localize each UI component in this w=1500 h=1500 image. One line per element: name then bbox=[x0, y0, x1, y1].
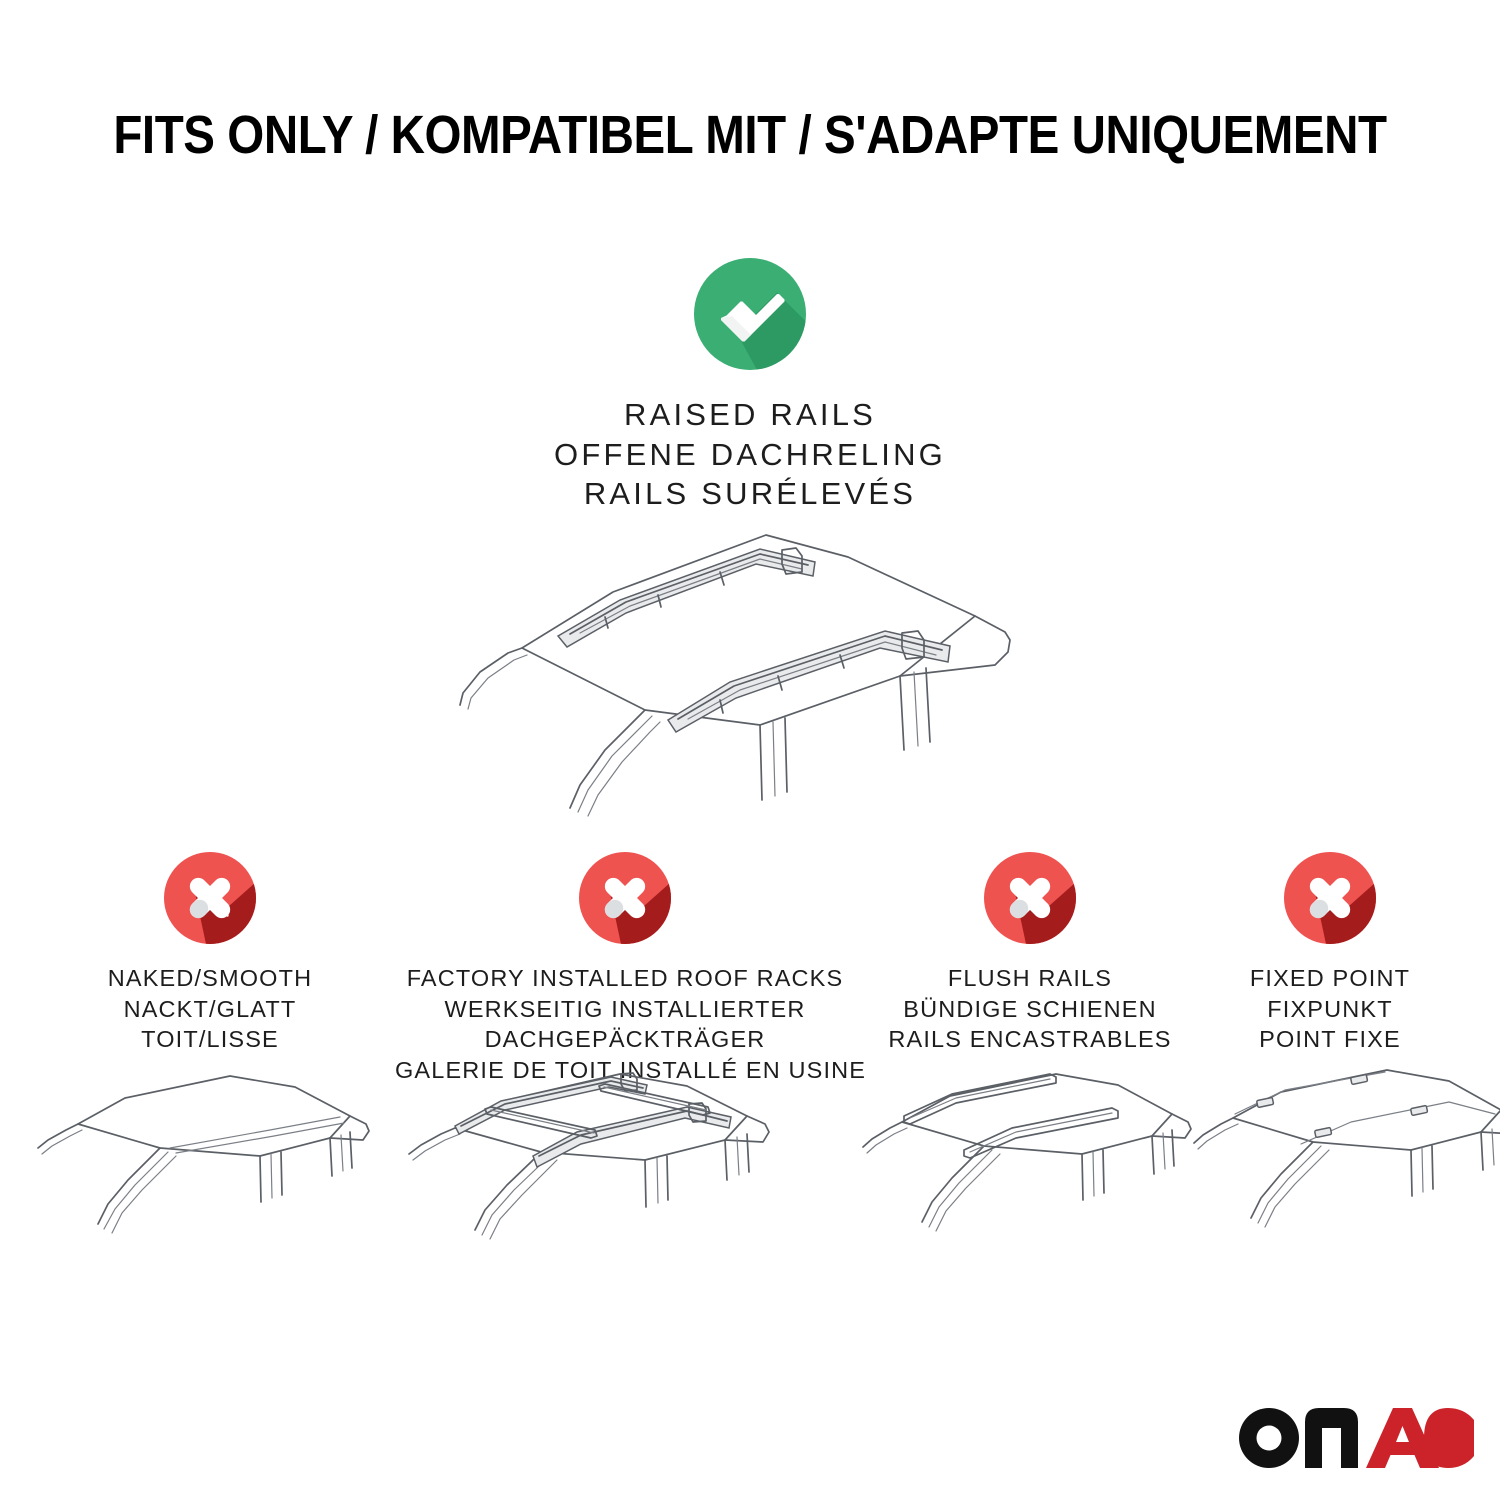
x-circle-icon bbox=[579, 852, 671, 944]
rejected-label-flush-rails: FLUSH RAILS BÜNDIGE SCHIENEN RAILS ENCAS… bbox=[860, 963, 1200, 1055]
x-circle-icon bbox=[164, 852, 256, 944]
rejected-section: NAKED/SMOOTH NACKT/GLATT TOIT/LISSE bbox=[0, 852, 1500, 1332]
rejected-item-factory-roof-racks: FACTORY INSTALLED ROOF RACKS WERKSEITIG … bbox=[395, 852, 855, 1085]
label-line-en: FACTORY INSTALLED ROOF RACKS bbox=[395, 963, 855, 994]
car-roof-flush-rails-illustration bbox=[860, 1052, 1200, 1272]
approved-label-line-de: OFFENE DACHRELING bbox=[0, 435, 1500, 475]
header: FITS ONLY / KOMPATIBEL MIT / S'ADAPTE UN… bbox=[0, 104, 1500, 166]
x-circle-icon bbox=[1284, 852, 1376, 944]
label-line-de: FIXPUNKT bbox=[1205, 994, 1455, 1025]
rejected-item-fixed-point: FIXED POINT FIXPUNKT POINT FIXE bbox=[1205, 852, 1455, 1055]
label-line-de: NACKT/GLATT bbox=[30, 994, 390, 1025]
approved-label: RAISED RAILS OFFENE DACHRELING RAILS SUR… bbox=[0, 395, 1500, 514]
label-line-en: NAKED/SMOOTH bbox=[30, 963, 390, 994]
x-mark-icon bbox=[984, 852, 1076, 944]
omac-logo-mark bbox=[1238, 1406, 1474, 1468]
label-line-de: BÜNDIGE SCHIENEN bbox=[860, 994, 1200, 1025]
label-line-de-2: DACHGEPÄCKTRÄGER bbox=[395, 1024, 855, 1055]
rejected-label-naked-smooth: NAKED/SMOOTH NACKT/GLATT TOIT/LISSE bbox=[30, 963, 390, 1055]
logo-letter-c bbox=[1424, 1408, 1474, 1468]
logo-letter-o bbox=[1239, 1408, 1299, 1468]
approved-section: RAISED RAILS OFFENE DACHRELING RAILS SUR… bbox=[0, 258, 1500, 514]
car-roof-naked-smooth-illustration bbox=[30, 1052, 390, 1272]
logo-letter-m bbox=[1305, 1408, 1358, 1468]
car-roof-with-raised-rails-illustration bbox=[430, 500, 1070, 820]
label-line-en: FIXED POINT bbox=[1205, 963, 1455, 994]
rejected-label-fixed-point: FIXED POINT FIXPUNKT POINT FIXE bbox=[1205, 963, 1455, 1055]
label-line-fr: POINT FIXE bbox=[1205, 1024, 1455, 1055]
x-mark-icon bbox=[1284, 852, 1376, 944]
omac-logo bbox=[1238, 1402, 1474, 1472]
approved-label-line-en: RAISED RAILS bbox=[0, 395, 1500, 435]
label-line-en: FLUSH RAILS bbox=[860, 963, 1200, 994]
check-mark-icon bbox=[694, 258, 806, 370]
x-mark-icon bbox=[579, 852, 671, 944]
label-line-fr: TOIT/LISSE bbox=[30, 1024, 390, 1055]
car-roof-fixed-point-illustration bbox=[1205, 1052, 1455, 1272]
x-mark-icon bbox=[164, 852, 256, 944]
x-circle-icon bbox=[984, 852, 1076, 944]
check-circle-icon bbox=[694, 258, 806, 370]
label-line-de-1: WERKSEITIG INSTALLIERTER bbox=[395, 994, 855, 1025]
rejected-item-flush-rails: FLUSH RAILS BÜNDIGE SCHIENEN RAILS ENCAS… bbox=[860, 852, 1200, 1055]
car-roof-factory-roof-racks-illustration bbox=[395, 1052, 855, 1272]
rejected-item-naked-smooth: NAKED/SMOOTH NACKT/GLATT TOIT/LISSE bbox=[30, 852, 390, 1055]
page-title: FITS ONLY / KOMPATIBEL MIT / S'ADAPTE UN… bbox=[90, 104, 1410, 166]
label-line-fr: RAILS ENCASTRABLES bbox=[860, 1024, 1200, 1055]
